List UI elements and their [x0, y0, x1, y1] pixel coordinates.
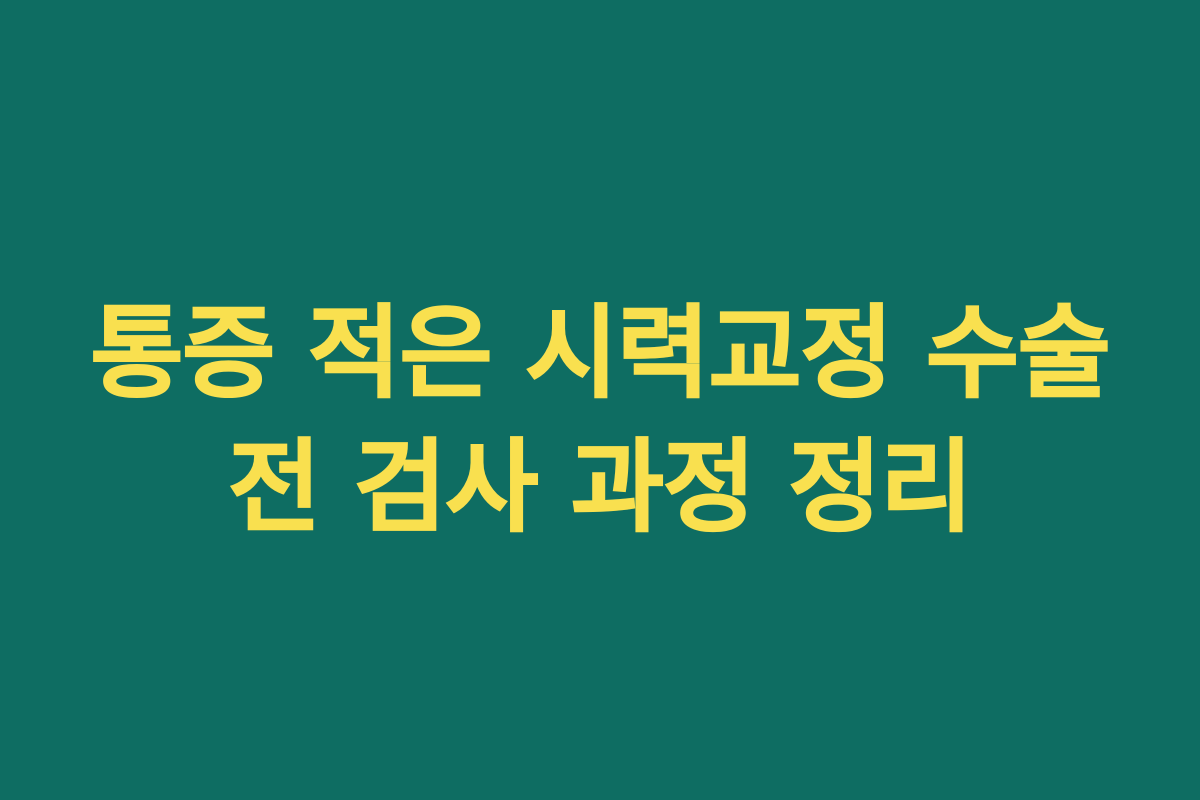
- title-line-1: 통증 적은 시력교정 수술: [40, 286, 1160, 420]
- title-card-banner: 통증 적은 시력교정 수술 전 검사 과정 정리: [0, 0, 1200, 800]
- title-line-2: 전 검사 과정 정리: [40, 420, 1160, 554]
- page-title: 통증 적은 시력교정 수술 전 검사 과정 정리: [0, 286, 1200, 554]
